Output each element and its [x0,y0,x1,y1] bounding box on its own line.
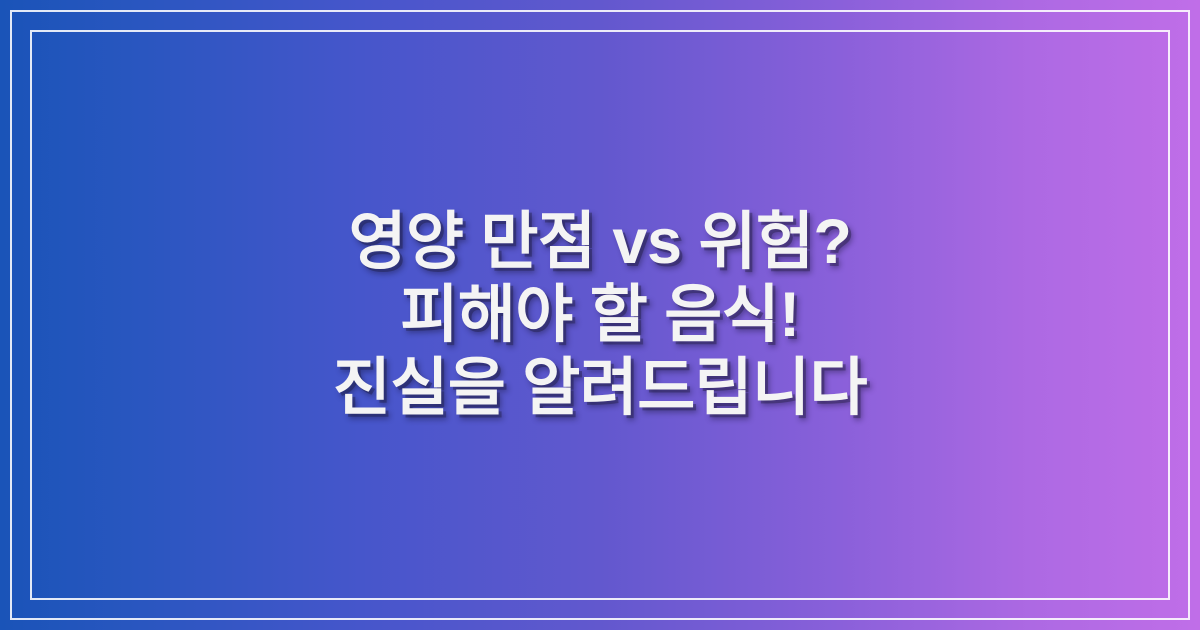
title-block: 영양 만점 vs 위험? 피해야 할 음식! 진실을 알려드립니다 [0,0,1200,630]
thumbnail-card: 영양 만점 vs 위험? 피해야 할 음식! 진실을 알려드립니다 [0,0,1200,630]
title-line-1: 영양 만점 vs 위험? [70,206,1130,279]
title-line-3: 진실을 알려드립니다 [70,352,1130,425]
title-line-2: 피해야 할 음식! [70,279,1130,352]
